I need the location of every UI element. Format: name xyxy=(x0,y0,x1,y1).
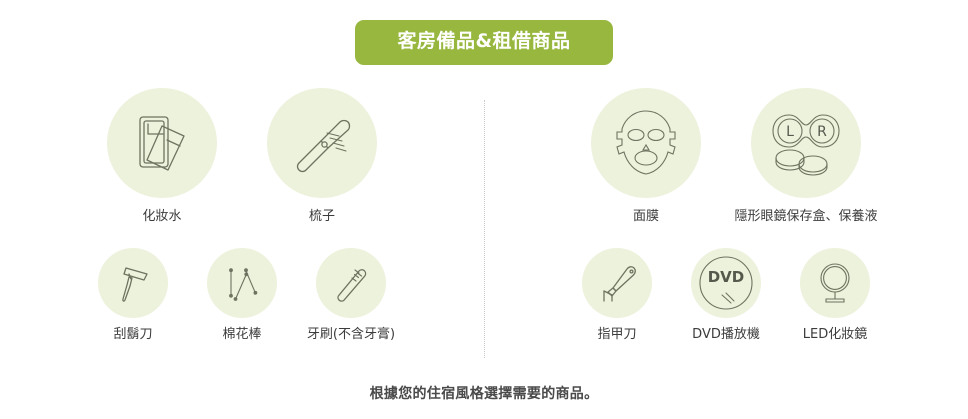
icon-circle xyxy=(591,88,701,198)
icon-circle xyxy=(800,248,870,318)
contact-lens-case-icon: L R xyxy=(764,101,848,185)
icon-circle xyxy=(316,248,386,318)
item-face-mask[interactable]: 面膜 xyxy=(584,88,708,225)
item-contact-lens-case[interactable]: L R 隱形眼鏡保存盒、保養液 xyxy=(744,88,868,225)
icon-circle xyxy=(582,248,652,318)
amenities-column-right: 面膜 L xyxy=(484,88,968,356)
item-label: 牙刷(不含牙膏) xyxy=(307,327,395,343)
items-area: 化妝水 xyxy=(0,88,968,356)
page-title: 客房備品&租借商品 xyxy=(397,31,570,52)
item-label: 梳子 xyxy=(309,209,335,225)
item-toothbrush[interactable]: 牙刷(不含牙膏) xyxy=(304,248,399,343)
dvd-disc-label: DVD xyxy=(708,268,745,286)
item-razor[interactable]: 刮鬍刀 xyxy=(86,248,181,343)
item-label: 棉花棒 xyxy=(222,327,261,343)
item-nail-clipper[interactable]: 指甲刀 xyxy=(570,248,665,343)
lens-cap-right-letter: R xyxy=(817,124,827,140)
icon-circle xyxy=(207,248,277,318)
item-label: 隱形眼鏡保存盒、保養液 xyxy=(735,209,878,225)
lens-cap-left-letter: L xyxy=(786,124,794,140)
item-label: DVD播放機 xyxy=(692,327,760,343)
icon-circle xyxy=(267,88,377,198)
comb-icon xyxy=(282,103,362,183)
item-cotton-swabs[interactable]: 棉花棒 xyxy=(195,248,290,343)
item-led-mirror[interactable]: LED化妝鏡 xyxy=(788,248,883,343)
left-row-large: 化妝水 xyxy=(0,88,484,225)
item-label: 面膜 xyxy=(633,209,659,225)
icon-circle: DVD xyxy=(691,248,761,318)
footer-note: 根據您的住宿風格選擇需要的商品。 xyxy=(0,383,968,403)
face-mask-icon xyxy=(604,101,688,185)
item-label: 指甲刀 xyxy=(597,327,636,343)
razor-icon xyxy=(107,257,159,309)
item-label: 化妝水 xyxy=(142,209,181,225)
header-banner-wrapper: 客房備品&租借商品 xyxy=(0,20,968,65)
left-row-small: 刮鬍刀 xyxy=(0,248,484,343)
item-label: LED化妝鏡 xyxy=(803,327,867,343)
lotion-bottles-icon xyxy=(122,103,202,183)
nail-clipper-icon xyxy=(591,257,643,309)
vanity-mirror-icon xyxy=(809,257,861,309)
dvd-disc-icon: DVD xyxy=(695,252,757,314)
right-row-small: 指甲刀 DVD DVD播放機 xyxy=(484,248,968,343)
amenities-column-left: 化妝水 xyxy=(0,88,484,356)
item-dvd-player[interactable]: DVD DVD播放機 xyxy=(679,248,774,343)
icon-circle xyxy=(98,248,168,318)
icon-circle: L R xyxy=(751,88,861,198)
header-banner: 客房備品&租借商品 xyxy=(355,20,612,65)
icon-circle xyxy=(107,88,217,198)
item-label: 刮鬍刀 xyxy=(113,327,152,343)
item-comb[interactable]: 梳子 xyxy=(260,88,384,225)
item-lotion[interactable]: 化妝水 xyxy=(100,88,224,225)
toothbrush-icon xyxy=(325,257,377,309)
cotton-swabs-icon xyxy=(216,257,268,309)
right-row-large: 面膜 L xyxy=(484,88,968,225)
